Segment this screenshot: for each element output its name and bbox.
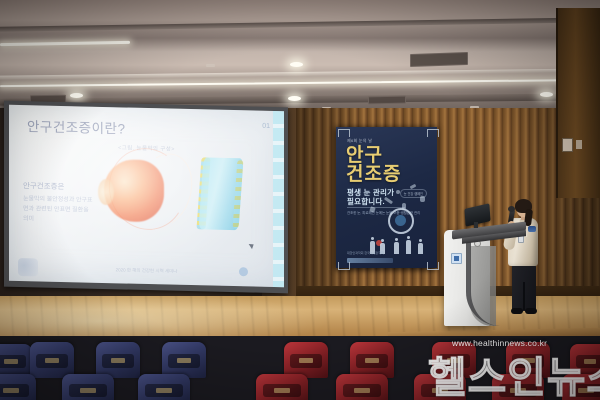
poster-clip (338, 129, 350, 137)
speaker-leg-gap (523, 282, 525, 310)
slide-org-logo (18, 258, 38, 276)
seat[interactable] (96, 342, 140, 378)
monitor-stand (474, 222, 478, 228)
poster-organizer: 대한안과학회 한국녹내장학회 (347, 251, 384, 256)
slide-sponsor-logo (239, 267, 248, 276)
slide-body-lead: 안구건조증은 (23, 181, 95, 193)
ceiling-beam (0, 17, 600, 31)
slide-accent-bar (273, 111, 284, 287)
seat[interactable] (62, 374, 114, 400)
poster-clip (427, 262, 439, 270)
poster-person-icon (394, 242, 399, 254)
poster-person-icon (406, 240, 411, 254)
poster-kicker: 제6회 눈의 날 (347, 138, 372, 144)
poster-clip (338, 262, 350, 270)
ceiling-downlight (540, 92, 553, 97)
ceiling-downlight (290, 62, 303, 67)
projection-screen: 01 안구건조증이란? <그림. 눈물막의 구성> 안구건조증은 눈물막의 불안… (9, 105, 284, 287)
ceiling-light-cove (0, 68, 600, 79)
seat[interactable] (30, 342, 74, 378)
ceiling-light-strip (0, 41, 130, 46)
poster-subhead-line2: 필요합니다. (347, 196, 385, 207)
poster-person-icon (418, 243, 423, 254)
ceiling-downlight (288, 96, 301, 101)
microphone-head-icon (508, 206, 515, 212)
poster-bottle-icon (420, 196, 425, 202)
light-switch-plate[interactable] (562, 138, 573, 152)
ceiling-air-vent (368, 96, 406, 105)
podium-accent-curve (466, 232, 505, 326)
watermark-brand: 헬스인뉴스 (428, 344, 600, 400)
slide-body-text: 안구건조증은 눈물막의 불안정성과 안구표면과 관련된 안표면 질환을 의미 (23, 181, 95, 226)
seat[interactable] (256, 374, 308, 400)
poster-organizer-logo (347, 258, 393, 263)
speaker-shoe (525, 308, 537, 314)
slide-body-lines: 눈물막의 불안정성과 안구표면과 관련된 안표면 질환을 의미 (23, 196, 93, 222)
poster-eye-icon (388, 208, 414, 234)
speaker-shoulder-patch (528, 226, 536, 232)
slide-title: 안구건조증이란? (27, 115, 125, 137)
ceiling-light-strip (0, 79, 600, 87)
slide-page-number: 01 (262, 123, 270, 130)
podium-emblem-icon (451, 253, 462, 264)
photo-scene: 01 안구건조증이란? <그림. 눈물막의 구성> 안구건조증은 눈물막의 불안… (0, 0, 600, 400)
ceiling-downlight (70, 93, 83, 98)
seat[interactable] (284, 342, 328, 378)
seat[interactable] (138, 374, 190, 400)
seat[interactable] (0, 344, 32, 378)
speaker-shoe (511, 308, 523, 314)
seat[interactable] (162, 342, 206, 378)
seat[interactable] (336, 374, 388, 400)
door-handle[interactable] (576, 140, 582, 149)
ceiling (0, 0, 600, 112)
campaign-poster: 제6회 눈의 날 안구 건조증 평생 눈 관리가 필요합니다. 눈 건강 캠페인… (336, 127, 437, 268)
seat[interactable] (350, 342, 394, 378)
ceiling-air-vent (410, 52, 468, 67)
poster-headline-line1: 안구 (346, 146, 383, 165)
mouse-cursor-icon (249, 242, 256, 249)
poster-dot-icon (396, 190, 400, 194)
ceiling-sensor (206, 64, 215, 67)
poster-clip (427, 129, 439, 137)
poster-headline-line2: 건조증 (346, 165, 401, 184)
side-door[interactable] (556, 8, 600, 198)
seat[interactable] (0, 374, 36, 400)
